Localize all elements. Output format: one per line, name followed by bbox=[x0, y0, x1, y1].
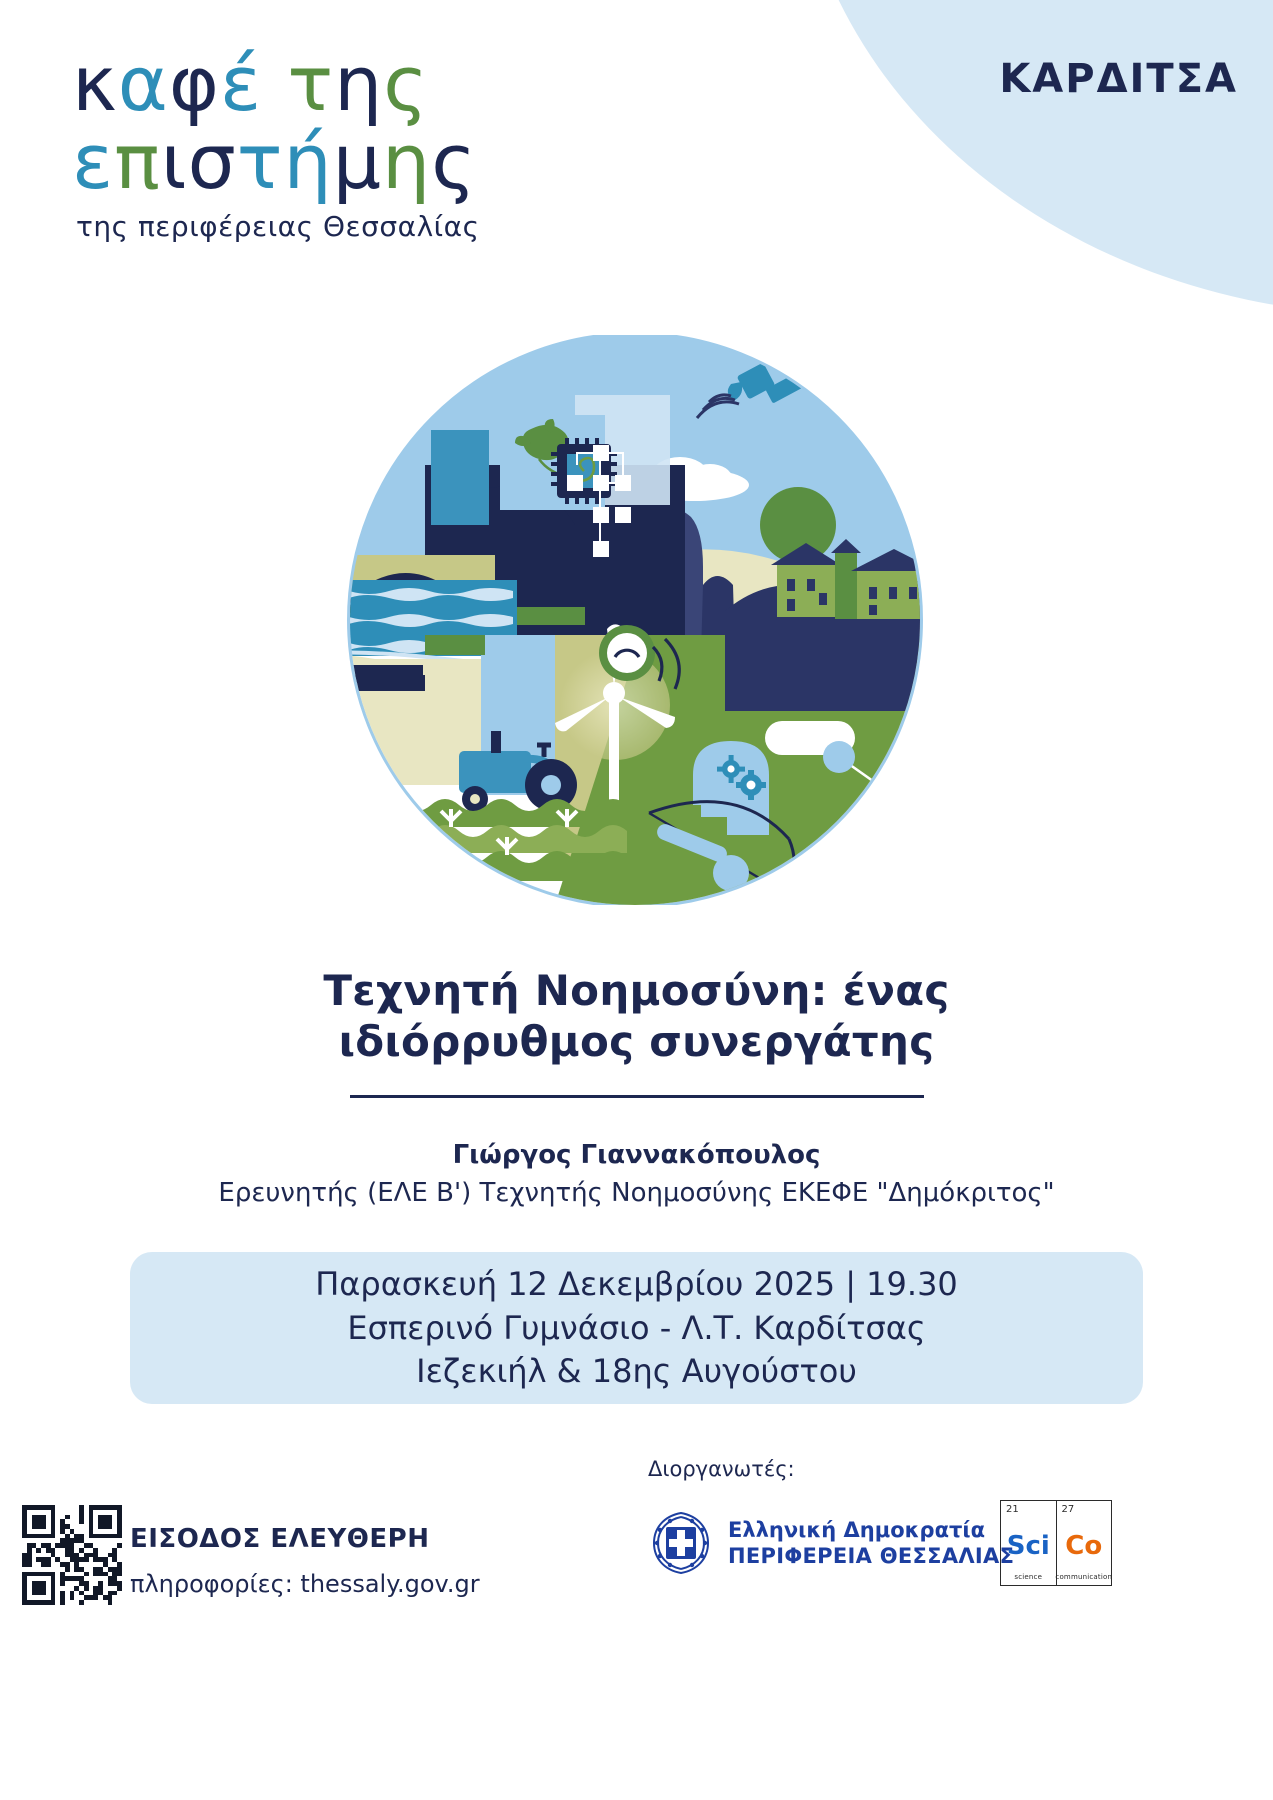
greek-emblem-icon bbox=[648, 1510, 714, 1576]
gov-line-1: Ελληνική Δημοκρατία bbox=[728, 1517, 1014, 1543]
info-url[interactable]: πληροφορίες: thessaly.gov.gr bbox=[130, 1570, 480, 1598]
corner-decoration bbox=[793, 0, 1273, 315]
event-details-box: Παρασκευή 12 Δεκεμβρίου 2025 | 19.30 Εσπ… bbox=[130, 1252, 1143, 1404]
scico-left-word: science bbox=[1014, 1573, 1042, 1581]
scico-logo: 21 Sci science 27 Co communication bbox=[1000, 1500, 1112, 1586]
free-entry-label: ΕΙΣΟΔΟΣ ΕΛΕΥΘΕΡΗ bbox=[130, 1524, 429, 1554]
scico-right-number: 27 bbox=[1062, 1504, 1075, 1515]
illustration-scene bbox=[255, 335, 1015, 905]
logo-line-2: επιστήμης bbox=[72, 126, 480, 198]
government-logo: Ελληνική Δημοκρατία ΠΕΡΙΦΕΡΕΙΑ ΘΕΣΣΑΛΙΑΣ bbox=[648, 1510, 1014, 1576]
scico-left-number: 21 bbox=[1006, 1504, 1019, 1515]
city-label: ΚΑΡΔΙΤΣΑ bbox=[999, 56, 1238, 102]
brand-logo: καφέ της επιστήμης της περιφέρειας Θεσσα… bbox=[72, 48, 480, 243]
scico-communication-cell: 27 Co communication bbox=[1056, 1501, 1112, 1585]
drone-icon bbox=[353, 355, 437, 397]
poster-canvas: ΚΑΡΔΙΤΣΑ καφέ της επιστήμης της περιφέρε… bbox=[0, 0, 1273, 1800]
qr-code[interactable] bbox=[22, 1505, 122, 1605]
page-title: Τεχνητή Νοημοσύνη: ένας ιδιόρρυθμος συνε… bbox=[0, 965, 1273, 1067]
logo-line-1: καφέ της bbox=[72, 48, 480, 120]
event-datetime: Παρασκευή 12 Δεκεμβρίου 2025 | 19.30 bbox=[315, 1264, 958, 1305]
hero-illustration bbox=[255, 335, 1015, 905]
speaker-name: Γιώργος Γιαννακόπουλος bbox=[0, 1140, 1273, 1170]
scico-right-word: communication bbox=[1055, 1573, 1112, 1581]
logo-subtitle: της περιφέρειας Θεσσαλίας bbox=[76, 210, 480, 243]
speaker-role: Ερευνητής (ΕΛΕ Β') Τεχνητής Νοημοσύνης Ε… bbox=[0, 1178, 1273, 1208]
event-venue: Εσπερινό Γυμνάσιο - Λ.Τ. Καρδίτσας bbox=[347, 1308, 925, 1349]
scico-right-symbol: Co bbox=[1065, 1531, 1102, 1561]
scico-left-symbol: Sci bbox=[1007, 1531, 1050, 1561]
title-line-1: Τεχνητή Νοημοσύνη: ένας bbox=[0, 965, 1273, 1016]
shore-waves bbox=[255, 687, 345, 791]
crop-field bbox=[375, 799, 627, 881]
gov-line-2: ΠΕΡΙΦΕΡΕΙΑ ΘΕΣΣΑΛΙΑΣ bbox=[728, 1543, 1014, 1569]
event-address: Ιεζεκιήλ & 18ης Αυγούστου bbox=[416, 1351, 857, 1392]
title-line-2: ιδιόρρυθμος συνεργάτης bbox=[0, 1016, 1273, 1067]
organizers-label: Διοργανωτές: bbox=[648, 1457, 795, 1481]
divider bbox=[350, 1095, 924, 1098]
scico-science-cell: 21 Sci science bbox=[1001, 1501, 1056, 1585]
